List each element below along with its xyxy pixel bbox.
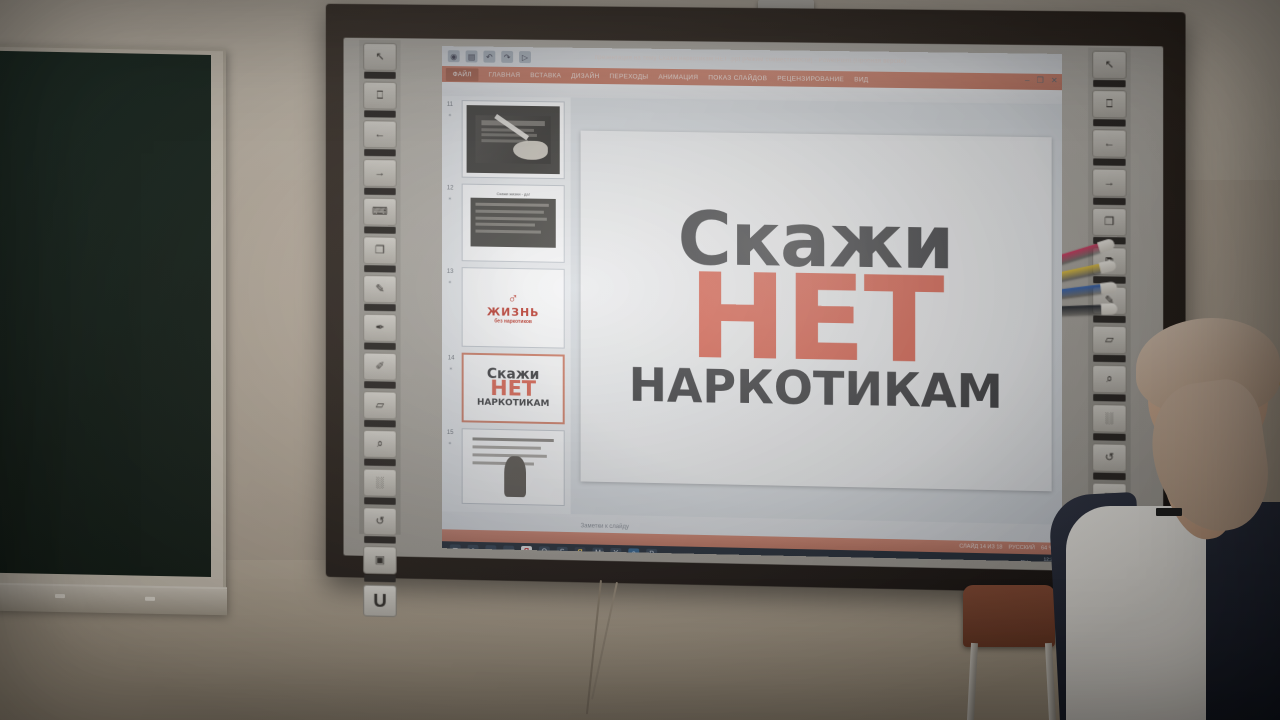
tool-label [364,110,396,117]
chair-backrest [963,585,1055,647]
marker-tool[interactable]: ✐ [363,352,396,380]
minimize-button[interactable]: – [1025,76,1029,85]
thumbnail-star: ✶ [448,196,452,202]
forward-arrow-tool[interactable]: → [1092,168,1126,197]
thumbnail-content [467,433,560,501]
tab-главная[interactable]: ГЛАВНАЯ [489,71,521,78]
tool-label [364,575,396,583]
keyboard-tool[interactable]: ⌨ [363,198,396,226]
tab-вставка[interactable]: ВСТАВКА [530,72,561,79]
thumbnail-content: ♂ЖИЗНЬбез наркотиков [467,272,560,343]
thumbnail-star: ✶ [448,441,452,447]
thumbnail-star: ✶ [448,113,452,119]
camera-tool[interactable]: ▣ [363,546,396,574]
slide-thumbnail-pane[interactable]: 11✶12✶Скажи жизни - да!13✶♂ЖИЗНЬбез нарк… [442,96,571,514]
cursor-tool[interactable]: ↖ [363,43,396,71]
tab-анимация[interactable]: АНИМАЦИЯ [658,73,698,81]
tool-label [1093,198,1125,205]
status-slide-counter: СЛАЙД 14 ИЗ 18 [959,544,1002,551]
slide-line-3: НАРКОТИКАМ [629,365,1003,414]
tool-label [364,226,396,233]
thumbnail-content: СкажиНЕТНАРКОТИКАМ [468,359,559,418]
tab-дизайн[interactable]: ДИЗАЙН [571,72,599,79]
tool-label [364,381,396,389]
thumbnail-content: Скажи жизни - да! [467,189,560,258]
window-title: презентация на тему Скажи наркотикам НЕТ… [595,55,906,65]
back-arrow-tool[interactable]: ← [1092,129,1126,158]
tool-label [364,265,396,272]
thumbnail-content [467,105,560,174]
magic-pen-tool[interactable]: ⌕ [363,430,396,458]
chalkboard-surface [0,51,211,577]
slide-editing-area[interactable]: Скажи НЕТ НАРКОТИКАМ [571,98,1062,525]
cursor-tool[interactable]: ↖ [1092,51,1126,80]
slide-line-2: НЕТ [688,268,942,369]
tool-label [364,536,396,544]
notes-placeholder: Заметки к слайду [581,523,629,530]
seated-woman [1056,318,1280,720]
tool-label [1093,119,1125,126]
eraser-tool[interactable]: ▱ [363,391,396,419]
tool-label [364,72,396,79]
close-button[interactable]: ✕ [1051,76,1058,85]
current-slide[interactable]: Скажи НЕТ НАРКОТИКАМ [581,131,1052,492]
thumbnail-number-11: 11 [447,102,453,108]
tab-file[interactable]: ФАЙЛ [446,68,479,81]
new-page-tool[interactable]: ⎕ [1092,90,1126,119]
tool-label [364,497,396,505]
tab-вид[interactable]: ВИД [854,76,868,83]
tool-label [364,149,396,156]
whiteboard-left-toolbar[interactable]: ↖⎕←→⌨❐✎✒✐▱⌕░↺▣U [359,40,400,535]
pen-tool[interactable]: ✎ [363,275,396,303]
tool-label [364,459,396,467]
thumbnail-slide-14[interactable]: 14✶СкажиНЕТНАРКОТИКАМ [462,353,565,425]
thumbnail-slide-11[interactable]: 11✶ [462,100,565,179]
thumbnail-star: ✶ [448,280,452,286]
restore-button[interactable]: ❐ [1037,76,1044,85]
tool-label [364,343,396,350]
thumbnail-number-12: 12 [447,185,454,191]
grid-tool[interactable]: ░ [363,469,396,497]
status-language[interactable]: РУССКИЙ [1009,545,1035,552]
thumbnail-slide-12[interactable]: 12✶Скажи жизни - да! [462,184,565,263]
chalk-tray [0,583,227,615]
tab-рецензирование[interactable]: РЕЦЕНЗИРОВАНИЕ [777,75,844,83]
highlighter-tool[interactable]: ✒ [363,314,396,342]
thumbnail-star: ✶ [449,366,453,372]
screen-capture-tool[interactable]: ❐ [363,236,396,264]
tab-показ-слайдов[interactable]: ПОКАЗ СЛАЙДОВ [708,74,767,82]
tool-label [1093,158,1125,165]
chair-leg [1045,643,1056,720]
thumbnail-number-14: 14 [448,355,455,361]
tool-label [364,420,396,428]
thumbnail-number-15: 15 [447,430,454,436]
tab-переходы[interactable]: ПЕРЕХОДЫ [609,73,648,80]
forward-arrow-tool[interactable]: → [363,159,396,187]
thumbnail-slide-13[interactable]: 13✶♂ЖИЗНЬбез наркотиков [462,267,565,348]
name-badge [1156,508,1182,516]
powerpoint-workspace: 11✶12✶Скажи жизни - да!13✶♂ЖИЗНЬбез нарк… [442,96,1062,525]
tool-label [364,188,396,195]
tool-label [364,304,396,311]
thumbnail-number-13: 13 [447,269,454,275]
wooden-chair [955,585,1065,720]
new-page-tool[interactable]: ⎕ [363,82,396,110]
back-arrow-tool[interactable]: ← [363,120,396,148]
chair-leg [967,643,978,720]
chalkboard [0,44,226,614]
projected-screen[interactable]: ◉▤↶↷▷ презентация на тему Скажи наркотик… [442,46,1062,562]
screen-capture-tool[interactable]: ❐ [1092,208,1126,237]
classroom-photo-scene: ↖⎕←→⌨❐✎✒✐▱⌕░↺▣U ↖⎕←→❐⧉✎▱⌕░↺▣U ◉▤↶↷▷ през… [0,0,1280,720]
tool-label [1093,80,1125,87]
thumbnail-slide-15[interactable]: 15✶ [462,428,565,506]
undo-redo-tool[interactable]: ↺ [363,507,396,535]
brand-logo-icon: U [363,585,396,617]
window-controls[interactable]: –❐✕ [1025,76,1058,85]
